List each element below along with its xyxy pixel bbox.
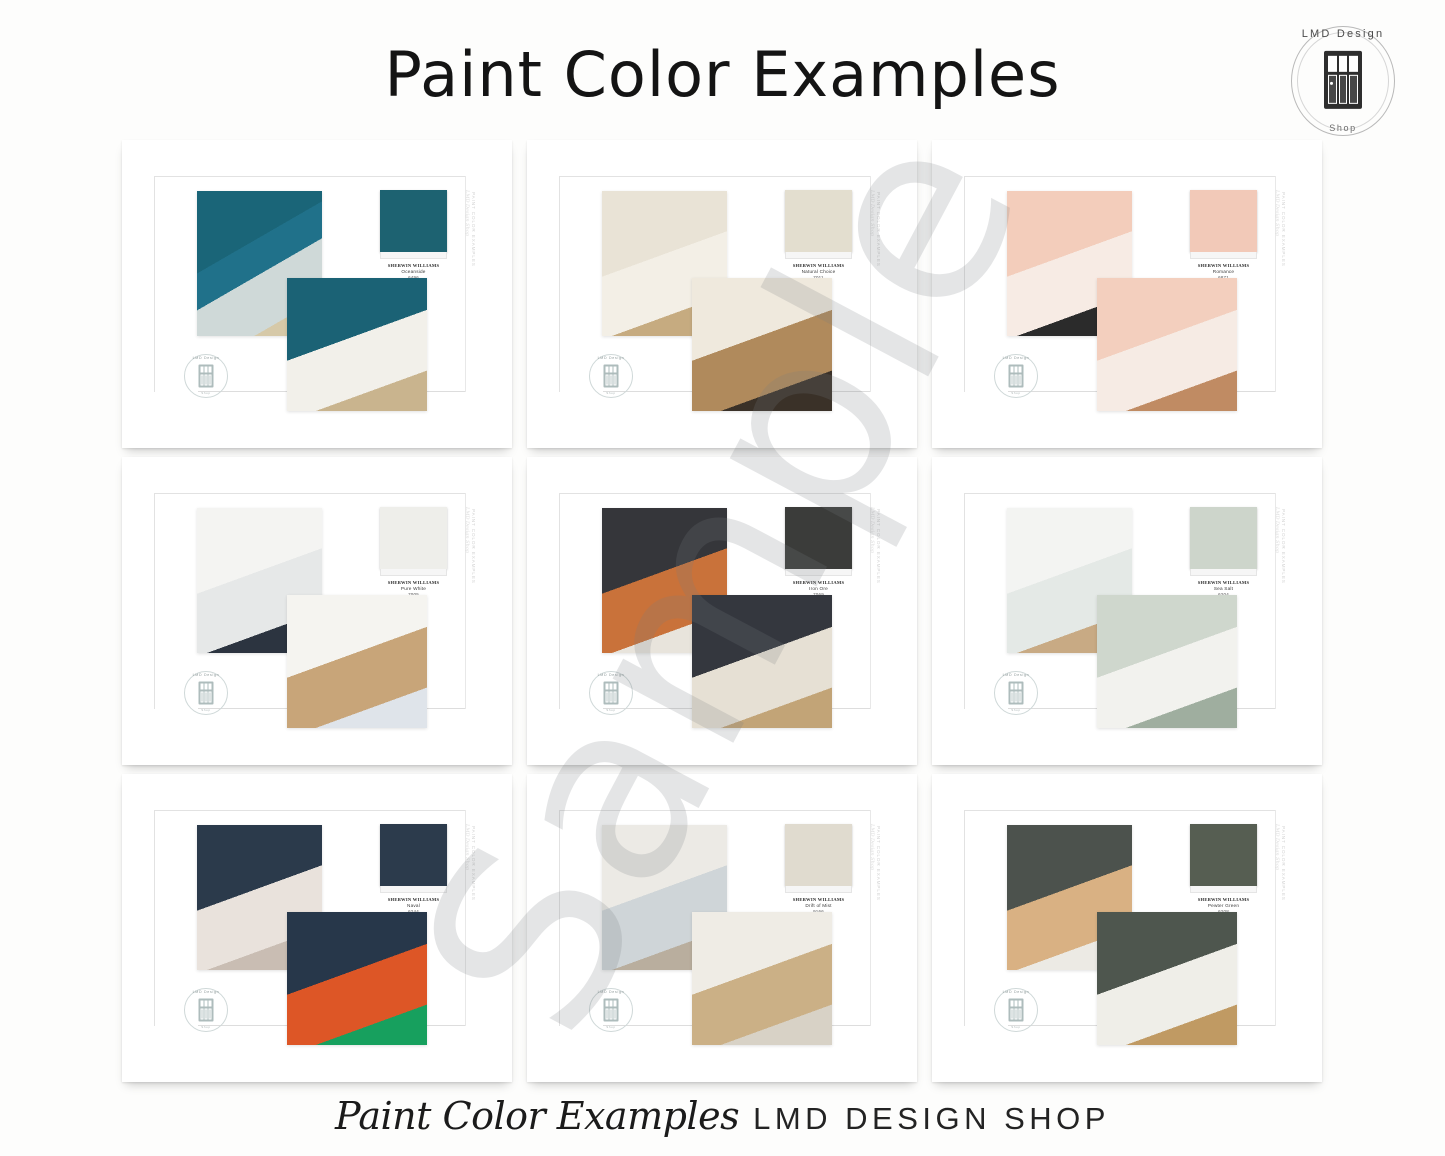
paint-swatch-chip — [380, 507, 447, 569]
paint-card[interactable]: Sherwin Williams Iron Ore 7069 LMD Desig… — [527, 457, 917, 765]
card-side-text: PAINT COLOR EXAMPLES — [1281, 826, 1286, 976]
card-side-script: LMD Design Shop — [869, 507, 875, 553]
paint-swatch-base — [1190, 886, 1257, 893]
card-frame-left — [964, 493, 965, 709]
paint-swatch-block[interactable]: Sherwin Williams Pewter Green 6208 — [1190, 824, 1257, 914]
card-frame-left — [154, 810, 155, 1026]
paint-swatch-block[interactable]: Sherwin Williams Natural Choice 7011 — [785, 190, 852, 280]
mini-logo-top-label: LMD Design — [589, 990, 633, 994]
door-icon — [199, 999, 214, 1022]
paint-swatch-base — [785, 569, 852, 576]
card-mini-logo: LMD Design Shop — [589, 671, 633, 715]
card-frame-top — [559, 493, 871, 494]
badge-bottom-label: Shop — [1283, 123, 1403, 133]
card-side-script: LMD Design Shop — [1274, 507, 1280, 553]
room-photo-secondary — [287, 278, 427, 411]
paint-brand: Sherwin Williams — [1190, 897, 1257, 903]
paint-swatch-base — [380, 569, 447, 576]
card-mini-logo: LMD Design Shop — [589, 988, 633, 1032]
card-side-script: LMD Design Shop — [464, 824, 470, 870]
card-frame-top — [154, 810, 466, 811]
page-title: Paint Color Examples — [0, 38, 1445, 111]
room-photo-secondary — [1097, 912, 1237, 1045]
badge-top-label: LMD Design — [1283, 28, 1403, 40]
paint-swatch-block[interactable]: Sherwin Williams Iron Ore 7069 — [785, 507, 852, 597]
paint-card[interactable]: Sherwin Williams Sea Salt 6204 LMD Desig… — [932, 457, 1322, 765]
mini-logo-top-label: LMD Design — [184, 356, 228, 360]
card-inner: Sherwin Williams Pewter Green 6208 LMD D… — [950, 792, 1302, 1052]
footer-brand-text: LMD DESIGN SHOP — [753, 1101, 1110, 1137]
room-photo-secondary — [692, 912, 832, 1045]
card-frame-top — [964, 493, 1276, 494]
card-inner: Sherwin Williams Naval 6244 LMD Design S… — [140, 792, 492, 1052]
paint-swatch-chip — [1190, 507, 1257, 569]
mini-logo-bottom-label: Shop — [994, 1025, 1038, 1029]
mini-logo-top-label: LMD Design — [994, 356, 1038, 360]
paint-brand: Sherwin Williams — [785, 580, 852, 586]
mini-logo-top-label: LMD Design — [184, 673, 228, 677]
door-icon — [1324, 51, 1362, 109]
card-inner: Sherwin Williams Natural Choice 7011 LMD… — [545, 158, 897, 418]
card-side-text: PAINT COLOR EXAMPLES — [1281, 192, 1286, 342]
card-side-script: LMD Design Shop — [464, 507, 470, 553]
door-icon — [604, 365, 619, 388]
card-inner: Sherwin Williams Oceanside 6496 LMD Desi… — [140, 158, 492, 418]
door-icon — [199, 365, 214, 388]
paint-brand: Sherwin Williams — [1190, 580, 1257, 586]
paint-swatch-base — [380, 886, 447, 893]
mini-logo-bottom-label: Shop — [994, 391, 1038, 395]
mini-logo-bottom-label: Shop — [184, 708, 228, 712]
card-frame-left — [154, 493, 155, 709]
card-inner: Sherwin Williams Drift of Mist 9166 LMD … — [545, 792, 897, 1052]
paint-swatch-block[interactable]: Sherwin Williams Drift of Mist 9166 — [785, 824, 852, 914]
mini-logo-bottom-label: Shop — [589, 1025, 633, 1029]
mini-logo-top-label: LMD Design — [994, 990, 1038, 994]
card-frame-left — [964, 176, 965, 392]
paint-swatch-chip — [1190, 190, 1257, 252]
door-icon — [1009, 365, 1024, 388]
paint-swatch-chip — [785, 507, 852, 569]
paint-brand: Sherwin Williams — [785, 263, 852, 269]
page-footer: Paint Color Examples LMD DESIGN SHOP — [0, 1094, 1445, 1138]
paint-swatch-base — [380, 252, 447, 259]
paint-card[interactable]: Sherwin Williams Romance 6871 LMD Design… — [932, 140, 1322, 448]
mini-logo-top-label: LMD Design — [994, 673, 1038, 677]
card-side-script: LMD Design Shop — [464, 190, 470, 236]
room-photo-secondary — [692, 595, 832, 728]
paint-card[interactable]: Sherwin Williams Oceanside 6496 LMD Desi… — [122, 140, 512, 448]
card-frame-left — [964, 810, 965, 1026]
room-photo-secondary — [287, 912, 427, 1045]
mini-logo-bottom-label: Shop — [589, 708, 633, 712]
card-side-script: LMD Design Shop — [1274, 824, 1280, 870]
paint-swatch-chip — [380, 190, 447, 252]
mini-logo-bottom-label: Shop — [184, 391, 228, 395]
card-side-script: LMD Design Shop — [869, 824, 875, 870]
card-side-text: PAINT COLOR EXAMPLES — [876, 192, 881, 342]
card-frame-top — [964, 810, 1276, 811]
card-side-text: PAINT COLOR EXAMPLES — [471, 826, 476, 976]
card-side-text: PAINT COLOR EXAMPLES — [471, 192, 476, 342]
paint-swatch-block[interactable]: Sherwin Williams Oceanside 6496 — [380, 190, 447, 280]
door-icon — [1009, 999, 1024, 1022]
room-photo-secondary — [692, 278, 832, 411]
paint-swatch-block[interactable]: Sherwin Williams Romance 6871 — [1190, 190, 1257, 280]
card-side-script: LMD Design Shop — [1274, 190, 1280, 236]
card-frame-top — [154, 176, 466, 177]
room-photo-secondary — [1097, 595, 1237, 728]
card-side-text: PAINT COLOR EXAMPLES — [471, 509, 476, 659]
paint-swatch-chip — [1190, 824, 1257, 886]
door-icon — [199, 682, 214, 705]
brand-logo-badge: LMD Design Shop — [1283, 22, 1403, 140]
paint-swatch-block[interactable]: Sherwin Williams Pure White 7005 — [380, 507, 447, 597]
mini-logo-bottom-label: Shop — [589, 391, 633, 395]
paint-card[interactable]: Sherwin Williams Drift of Mist 9166 LMD … — [527, 774, 917, 1082]
door-icon — [604, 682, 619, 705]
card-inner: Sherwin Williams Sea Salt 6204 LMD Desig… — [950, 475, 1302, 735]
mini-logo-top-label: LMD Design — [589, 356, 633, 360]
paint-card[interactable]: Sherwin Williams Pure White 7005 LMD Des… — [122, 457, 512, 765]
paint-cards-grid: Sherwin Williams Oceanside 6496 LMD Desi… — [122, 140, 1322, 1082]
paint-swatch-base — [1190, 252, 1257, 259]
card-side-script: LMD Design Shop — [869, 190, 875, 236]
paint-swatch-block[interactable]: Sherwin Williams Naval 6244 — [380, 824, 447, 914]
card-mini-logo: LMD Design Shop — [589, 354, 633, 398]
door-icon — [1009, 682, 1024, 705]
paint-swatch-chip — [785, 190, 852, 252]
card-mini-logo: LMD Design Shop — [994, 354, 1038, 398]
door-icon — [604, 999, 619, 1022]
paint-swatch-chip — [785, 824, 852, 886]
paint-card[interactable]: Sherwin Williams Natural Choice 7011 LMD… — [527, 140, 917, 448]
card-frame-top — [559, 176, 871, 177]
card-mini-logo: LMD Design Shop — [184, 988, 228, 1032]
card-inner: Sherwin Williams Pure White 7005 LMD Des… — [140, 475, 492, 735]
card-mini-logo: LMD Design Shop — [184, 354, 228, 398]
footer-script-text: Paint Color Examples — [335, 1094, 739, 1138]
paint-brand: Sherwin Williams — [380, 897, 447, 903]
card-frame-top — [559, 810, 871, 811]
paint-brand: Sherwin Williams — [380, 580, 447, 586]
card-frame-left — [154, 176, 155, 392]
mini-logo-top-label: LMD Design — [184, 990, 228, 994]
card-inner: Sherwin Williams Romance 6871 LMD Design… — [950, 158, 1302, 418]
room-photo-secondary — [1097, 278, 1237, 411]
card-frame-left — [559, 493, 560, 709]
paint-swatch-base — [1190, 569, 1257, 576]
paint-brand: Sherwin Williams — [1190, 263, 1257, 269]
paint-swatch-block[interactable]: Sherwin Williams Sea Salt 6204 — [1190, 507, 1257, 597]
paint-swatch-base — [785, 886, 852, 893]
paint-swatch-chip — [380, 824, 447, 886]
card-inner: Sherwin Williams Iron Ore 7069 LMD Desig… — [545, 475, 897, 735]
paint-brand: Sherwin Williams — [785, 897, 852, 903]
card-mini-logo: LMD Design Shop — [994, 988, 1038, 1032]
page-header: Paint Color Examples LMD Design Shop — [0, 0, 1445, 136]
card-frame-left — [559, 176, 560, 392]
paint-swatch-base — [785, 252, 852, 259]
paint-card[interactable]: Sherwin Williams Naval 6244 LMD Design S… — [122, 774, 512, 1082]
mini-logo-bottom-label: Shop — [994, 708, 1038, 712]
card-mini-logo: LMD Design Shop — [184, 671, 228, 715]
card-frame-left — [559, 810, 560, 1026]
paint-card[interactable]: Sherwin Williams Pewter Green 6208 LMD D… — [932, 774, 1322, 1082]
paint-brand: Sherwin Williams — [380, 263, 447, 269]
card-side-text: PAINT COLOR EXAMPLES — [876, 509, 881, 659]
room-photo-secondary — [287, 595, 427, 728]
card-side-text: PAINT COLOR EXAMPLES — [876, 826, 881, 976]
card-frame-top — [964, 176, 1276, 177]
card-side-text: PAINT COLOR EXAMPLES — [1281, 509, 1286, 659]
mini-logo-top-label: LMD Design — [589, 673, 633, 677]
card-frame-top — [154, 493, 466, 494]
card-mini-logo: LMD Design Shop — [994, 671, 1038, 715]
mini-logo-bottom-label: Shop — [184, 1025, 228, 1029]
